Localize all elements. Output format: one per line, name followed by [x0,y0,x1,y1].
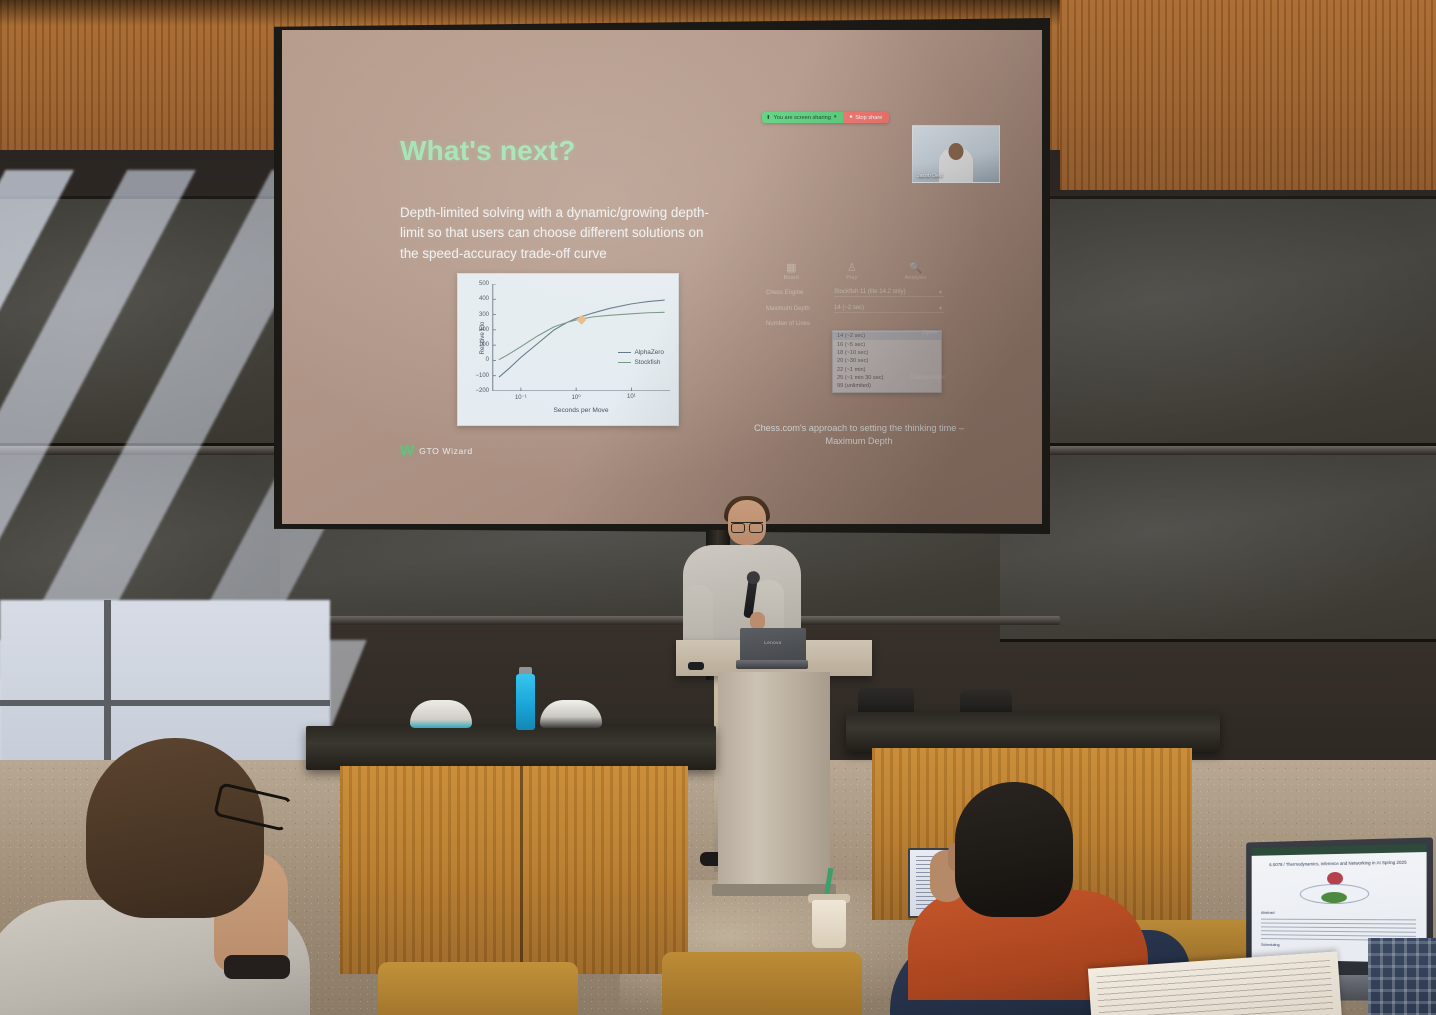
board-icon: ▦ [784,262,799,275]
y-tick-500: 500 [479,281,489,287]
relative-elo-chart: Relative Elo Seconds per Move 5004003002… [457,273,679,426]
chair-foreground-center [662,952,862,1015]
bike-helmet-right [540,700,602,728]
window-mullion-horizontal [0,700,330,706]
presenter-laptop-base [736,660,808,669]
stop-icon: ⏹ [850,114,853,121]
field-maximum-depth[interactable]: Maximum Depth 14 (~2 sec) ▾ [766,305,944,313]
tab-analysis-label: Analysis [905,275,927,281]
x-tick-0.1: 10⁻¹ [515,394,527,401]
screen-sharing-label: You are screen sharing [774,115,831,121]
legend-item-alphazero: AlphaZero [618,349,665,356]
screen-share-bar[interactable]: ⬆ You are screen sharing ⏸ ⏹ Stop share [762,112,889,123]
course-page-diagram [1298,872,1375,909]
stop-share-label: Stop share [855,115,882,121]
highlight-marker [577,315,587,325]
bench-right-top [846,712,1220,752]
presenter-glasses [731,522,763,530]
maximum-depth-value-text: 14 (~2 sec) [834,305,864,311]
y-tick-200: 200 [479,327,489,333]
participant-name-label: Jacob Devl [917,173,943,179]
chart-plot-area: Relative Elo Seconds per Move 5004003002… [492,284,670,391]
gto-wizard-logo: W GTO Wizard [400,443,473,458]
dropdown-option-1[interactable]: 16 (~5 sec) [833,340,941,348]
chalk-rail-center [280,616,1060,625]
chevron-down-icon: ▾ [939,289,942,296]
chart-svg [492,284,670,391]
presentation-slide: What's next? Depth-limited solving with … [282,30,1042,524]
audience-right-head [955,782,1073,917]
screen-sharing-status: ⬆ You are screen sharing ⏸ [762,112,843,123]
water-bottle [516,674,535,730]
projected-slide-surface: What's next? Depth-limited solving with … [282,30,1042,524]
bench-left-divider [520,766,523,974]
share-arrow-icon: ⬆ [766,115,771,121]
gto-wizard-mark: W [400,443,414,458]
y-tick-400: 400 [479,296,489,302]
dropdown-option-3[interactable]: 20 (~30 sec) [833,357,941,365]
field-chess-engine-value[interactable]: Stockfish 11 (lite 14.2 only) ▾ [834,289,944,297]
slide-body-text: Depth-limited solving with a dynamic/gro… [400,203,710,264]
pause-icon[interactable]: ⏸ [834,114,837,121]
bench-left-body [340,766,688,974]
chart-x-axis-label: Seconds per Move [554,407,609,414]
podium-body [718,672,830,892]
field-maximum-depth-label: Maximum Depth [766,306,828,312]
y-tick-100: 100 [479,342,489,348]
y-tick-0: 0 [486,357,489,363]
gto-wizard-wordmark: GTO Wizard [419,446,473,456]
dropdown-option-4[interactable]: 22 (~1 min) [833,366,941,374]
y-tick--200: −200 [475,388,489,394]
bench-left-top [306,726,716,770]
tab-analysis[interactable]: 🔍 Analysis [905,262,927,281]
field-number-of-lines[interactable]: Number of Lines [766,321,944,327]
slide-title: What's next? [400,135,576,167]
laptop-brand-label: Lenovo [764,640,781,645]
panel-ghost-text-2: Transposition [910,375,946,381]
chair-foreground-left [378,962,578,1015]
field-number-of-lines-label: Number of Lines [766,321,828,327]
y-tick-300: 300 [479,312,489,318]
field-chess-engine[interactable]: Chess Engine Stockfish 11 (lite 14.2 onl… [766,289,944,297]
x-tick-10: 10¹ [627,394,636,400]
chalkboard-right-lower [1000,452,1436,642]
chevron-down-icon: ▾ [939,305,942,312]
diagram-ellipse [1300,884,1369,904]
chess-engine-value-text: Stockfish 11 (lite 14.2 only) [834,289,906,295]
projection-screen: What's next? Depth-limited solving with … [274,18,1050,534]
chesscom-tab-bar[interactable]: ▦ Board ♙ Play 🔍 Analysis [760,258,950,281]
mic-receiver-box [688,662,704,670]
drink-cup [812,900,846,948]
participant-head [949,143,964,160]
tab-play[interactable]: ♙ Play [846,262,857,281]
slide-caption: Chess.com's approach to setting the thin… [734,422,984,449]
browser-chrome-bar [1252,844,1427,856]
stop-share-button[interactable]: ⏹ Stop share [843,112,890,123]
legend-label-stockfish: Stockfish [635,359,661,366]
tab-board[interactable]: ▦ Board [784,262,799,281]
legend-item-stockfish: Stockfish [618,359,665,366]
field-chess-engine-label: Chess Engine [766,290,828,296]
audience-plaid-sleeve [1368,938,1436,1015]
legend-swatch-stockfish [618,362,631,363]
maximum-depth-dropdown[interactable]: 14 (~2 sec)16 (~5 sec)18 (~10 sec)20 (~3… [832,330,942,393]
chalk-rail-right [1000,446,1436,455]
y-tick--100: −100 [475,373,489,379]
presenter-laptop-lid: Lenovo [740,628,806,662]
chalkboard-right-upper [1000,196,1436,446]
panel-ghost-text-1: Open [922,330,937,336]
dropdown-option-6[interactable]: 99 (unlimited) [833,382,941,390]
audience-left-watch [224,955,290,979]
audience-left-head [86,738,264,918]
legend-label-alphazero: AlphaZero [635,349,665,356]
tab-play-label: Play [846,275,857,281]
tab-board-label: Board [784,275,799,281]
legend-swatch-alphazero [618,352,631,353]
lecture-hall-photo: What's next? Depth-limited solving with … [0,0,1436,1015]
chart-legend: AlphaZero Stockfish [618,349,665,369]
course-page-title: 6.S078 / Thermodynamics, Inference and N… [1252,859,1427,868]
pawn-icon: ♙ [846,262,857,275]
bike-helmet-left [410,700,472,728]
magnifier-icon: 🔍 [905,262,927,275]
field-maximum-depth-value[interactable]: 14 (~2 sec) ▾ [834,305,944,313]
wood-wall-panel-right [1060,0,1436,190]
participant-video-tile[interactable]: Jacob Devl [912,125,1000,183]
dropdown-option-2[interactable]: 18 (~10 sec) [833,349,941,357]
course-page-section-label: Abstract [1261,910,1416,915]
x-tick-1: 10⁰ [572,394,581,401]
